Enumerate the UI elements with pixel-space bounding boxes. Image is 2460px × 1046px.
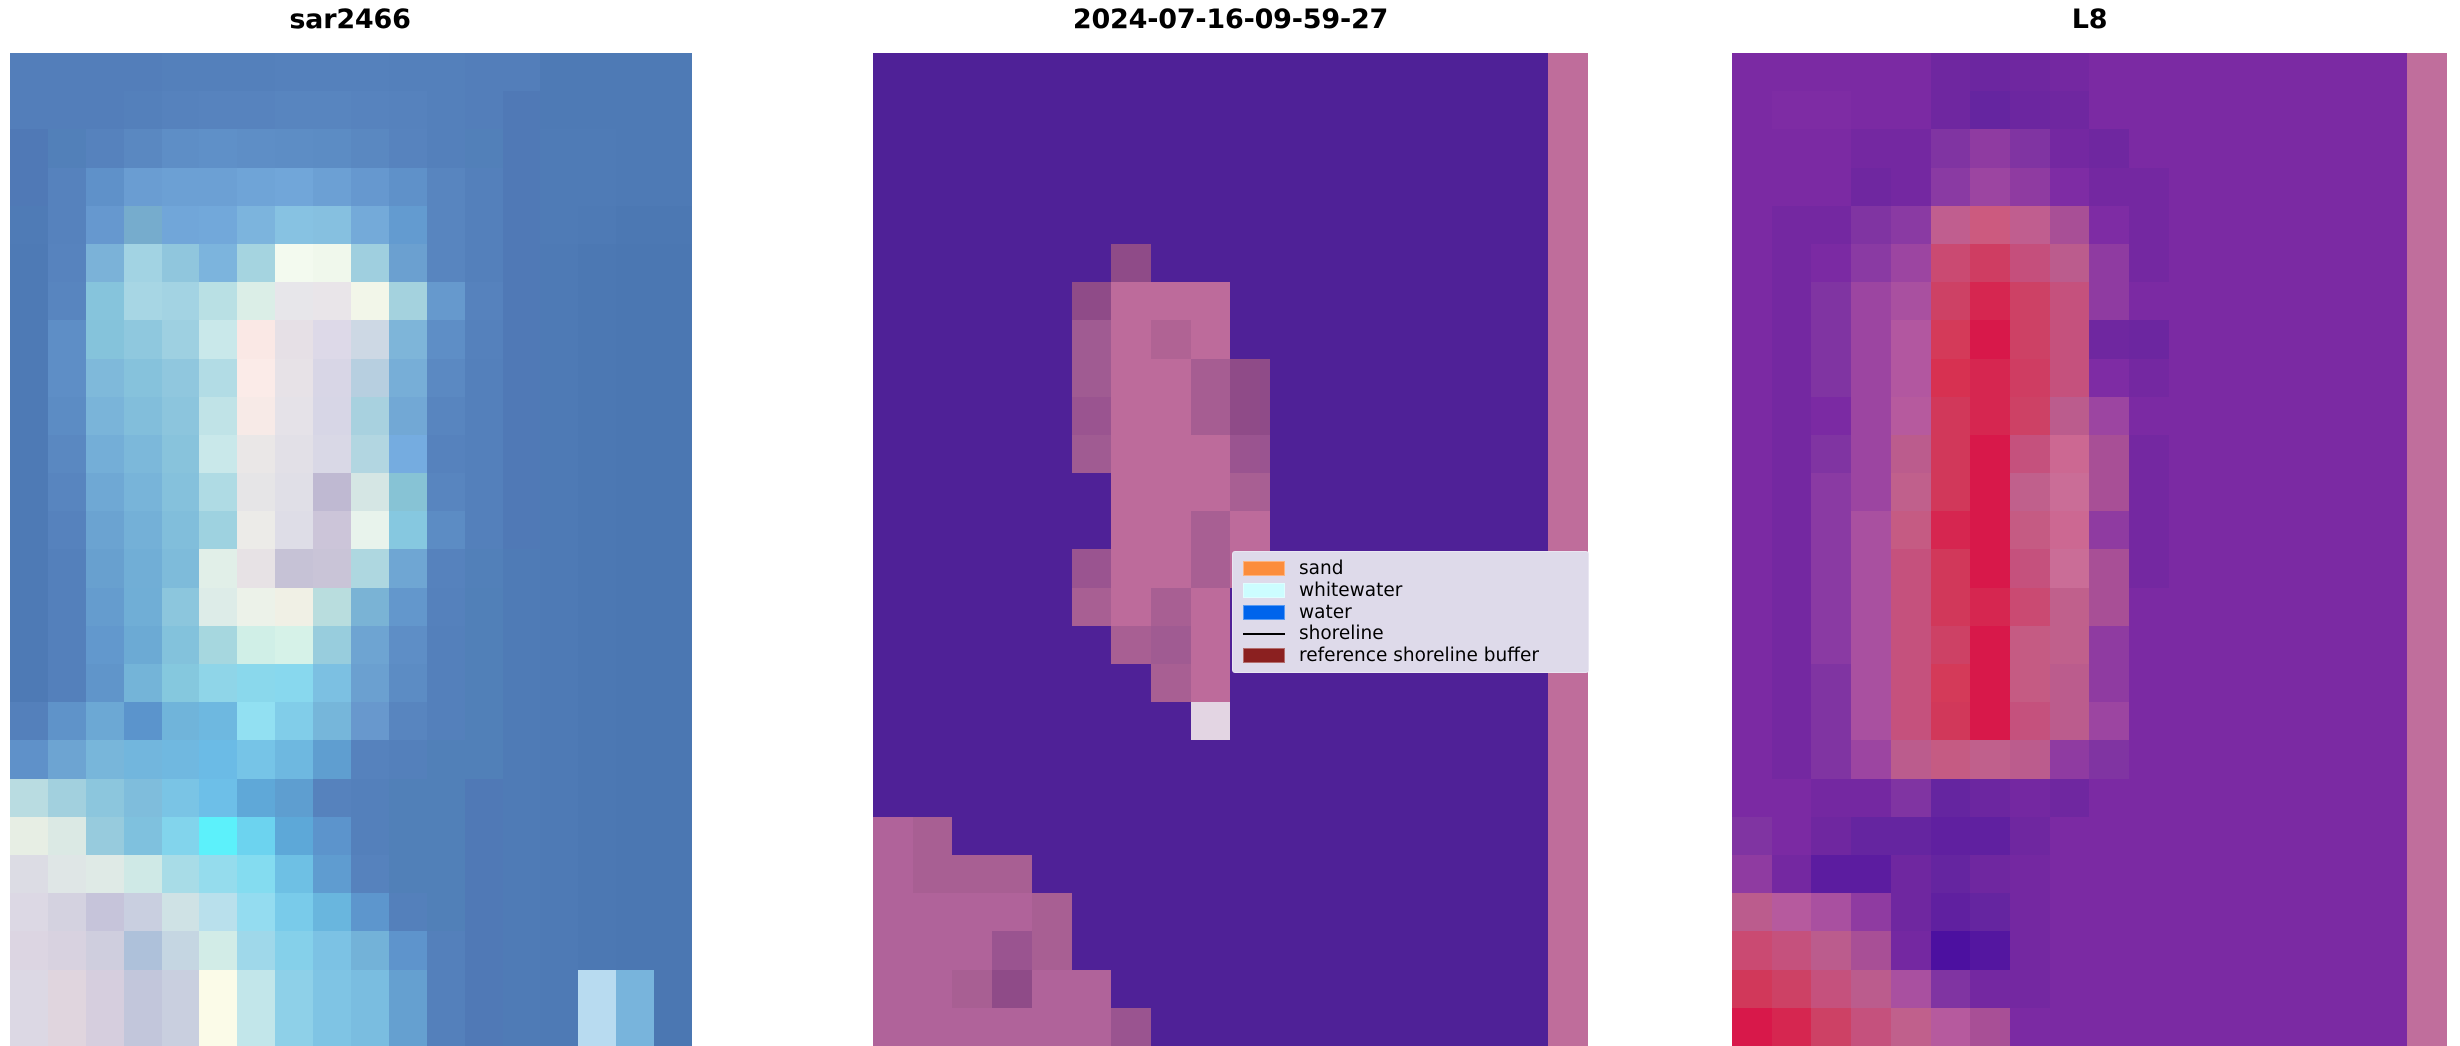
pixel-cell (199, 931, 237, 969)
pixel-cell (616, 53, 654, 91)
pixel-cell (1111, 206, 1151, 244)
pixel-cell (1970, 129, 2010, 167)
pixel-cell (1772, 931, 1812, 969)
pixel-cell (162, 397, 200, 435)
pixel-cell (1772, 855, 1812, 893)
pixel-cell (1389, 168, 1429, 206)
pixel-cell (389, 588, 427, 626)
pixel-cell (503, 588, 541, 626)
pixel-cell (2407, 931, 2447, 969)
pixel-cell (540, 664, 578, 702)
pixel-cell (162, 320, 200, 358)
pixel-cell (199, 168, 237, 206)
pixel-cell (1811, 435, 1851, 473)
pixel-cell (275, 549, 313, 587)
pixel-cell (124, 855, 162, 893)
pixel-cell (351, 511, 389, 549)
pixel-cell (1548, 53, 1588, 91)
pixel-cell (2407, 740, 2447, 778)
pixel-cell (1851, 320, 1891, 358)
pixel-cell (2129, 817, 2169, 855)
pixel-cell (2129, 435, 2169, 473)
pixel-cell (1970, 626, 2010, 664)
pixel-cell (10, 473, 48, 511)
pixel-cell (1931, 511, 1971, 549)
pixel-cell (1772, 1008, 1812, 1046)
pixel-cell (913, 931, 953, 969)
pixel-cell (1772, 435, 1812, 473)
pixel-cell (1230, 206, 1270, 244)
pixel-cell (124, 664, 162, 702)
pixel-cell (313, 855, 351, 893)
pixel-cell (654, 702, 692, 740)
pixel-cell (1111, 931, 1151, 969)
pixel-cell (2010, 244, 2050, 282)
pixel-cell (2089, 359, 2129, 397)
pixel-cell (2010, 91, 2050, 129)
pixel-cell (654, 549, 692, 587)
pixel-cell (1429, 970, 1469, 1008)
pixel-cell (199, 320, 237, 358)
pixel-cell (427, 473, 465, 511)
pixel-cell (2209, 206, 2249, 244)
pixel-cell (992, 91, 1032, 129)
pixel-cell (2010, 53, 2050, 91)
pixel-cell (2089, 626, 2129, 664)
pixel-cell (1811, 359, 1851, 397)
pixel-cell (2248, 129, 2288, 167)
pixel-cell (199, 359, 237, 397)
pixel-cell (1931, 588, 1971, 626)
pixel-cell (992, 970, 1032, 1008)
pixel-cell (124, 282, 162, 320)
pixel-cell (540, 740, 578, 778)
pixel-cell (1772, 282, 1812, 320)
pixel-cell (124, 206, 162, 244)
pixel-cell (389, 320, 427, 358)
pixel-cell (124, 129, 162, 167)
pixel-cell (503, 855, 541, 893)
pixel-cell (2407, 664, 2447, 702)
pixel-cell (1891, 855, 1931, 893)
pixel-cell (465, 855, 503, 893)
pixel-cell (1469, 817, 1509, 855)
pixel-cell (2169, 855, 2209, 893)
pixel-cell (1191, 435, 1231, 473)
pixel-cell (2288, 970, 2328, 1008)
pixel-cell (1151, 626, 1191, 664)
pixel-cell (2209, 129, 2249, 167)
legend-patch-icon (1243, 605, 1285, 620)
pixel-cell (1111, 53, 1151, 91)
pixel-cell (873, 53, 913, 91)
pixel-cell (1732, 855, 1772, 893)
pixel-cell (124, 549, 162, 587)
pixel-cell (1891, 1008, 1931, 1046)
pixel-cell (237, 1008, 275, 1046)
pixel-cell (1111, 435, 1151, 473)
pixel-cell (427, 740, 465, 778)
pixel-cell (1151, 473, 1191, 511)
pixel-cell (1389, 91, 1429, 129)
pixel-cell (2248, 91, 2288, 129)
pixel-cell (162, 168, 200, 206)
pixel-cell (1811, 855, 1851, 893)
pixel-cell (162, 779, 200, 817)
pixel-cell (351, 282, 389, 320)
pixel-cell (1509, 817, 1549, 855)
pixel-cell (1191, 549, 1231, 587)
pixel-cell (1151, 931, 1191, 969)
pixel-cell (465, 244, 503, 282)
pixel-cell (1111, 588, 1151, 626)
pixel-cell (86, 626, 124, 664)
pixel-cell (1970, 588, 2010, 626)
pixel-cell (1931, 91, 1971, 129)
pixel-cell (654, 206, 692, 244)
pixel-cell (2209, 626, 2249, 664)
pixel-cell (2288, 931, 2328, 969)
pixel-cell (2050, 168, 2090, 206)
pixel-cell (1389, 1008, 1429, 1046)
pixel-cell (2089, 855, 2129, 893)
pixel-cell (124, 740, 162, 778)
pixel-cell (237, 740, 275, 778)
pixel-cell (992, 435, 1032, 473)
pixel-cell (540, 970, 578, 1008)
pixel-cell (275, 588, 313, 626)
pixel-cell (2248, 244, 2288, 282)
pixel-cell (1469, 282, 1509, 320)
pixel-cell (1811, 588, 1851, 626)
pixel-cell (2010, 473, 2050, 511)
pixel-cell (2328, 702, 2368, 740)
pixel-cell (313, 817, 351, 855)
pixel-cell (992, 779, 1032, 817)
pixel-cell (2129, 588, 2169, 626)
pixel-cell (86, 702, 124, 740)
legend-item[interactable]: water (1243, 603, 1580, 622)
pixel-cell (465, 549, 503, 587)
pixel-cell (465, 893, 503, 931)
pixel-cell (351, 702, 389, 740)
pixel-cell (1389, 473, 1429, 511)
pixel-cell (2129, 664, 2169, 702)
pixel-cell (1811, 282, 1851, 320)
pixel-cell (199, 511, 237, 549)
pixel-cell (1191, 206, 1231, 244)
pixel-cell (1732, 244, 1772, 282)
pixel-cell (1151, 359, 1191, 397)
pixel-cell (2407, 817, 2447, 855)
pixel-cell (2209, 53, 2249, 91)
pixel-cell (1032, 664, 1072, 702)
pixel-cell (992, 626, 1032, 664)
pixel-cell (1811, 1008, 1851, 1046)
pixel-cell (124, 817, 162, 855)
pixel-cell (1072, 779, 1112, 817)
pixel-cell (2209, 359, 2249, 397)
pixel-cell (2050, 473, 2090, 511)
legend-item[interactable]: whitewater (1243, 581, 1580, 600)
pixel-cell (389, 855, 427, 893)
pixel-cell (48, 740, 86, 778)
pixel-cell (2328, 473, 2368, 511)
pixel-cell (952, 931, 992, 969)
pixel-cell (503, 740, 541, 778)
pixel-cell (2328, 626, 2368, 664)
pixel-cell (1548, 129, 1588, 167)
pixel-grid (1732, 53, 2447, 1046)
pixel-cell (1970, 244, 2010, 282)
pixel-cell (503, 702, 541, 740)
pixel-cell (654, 168, 692, 206)
pixel-cell (2129, 511, 2169, 549)
pixel-cell (1191, 817, 1231, 855)
pixel-cell (2089, 702, 2129, 740)
pixel-cell (616, 129, 654, 167)
pixel-cell (1509, 91, 1549, 129)
pixel-cell (2209, 397, 2249, 435)
pixel-cell (1931, 244, 1971, 282)
pixel-cell (952, 893, 992, 931)
pixel-cell (465, 53, 503, 91)
pixel-cell (540, 244, 578, 282)
pixel-cell (578, 282, 616, 320)
pixel-cell (275, 702, 313, 740)
pixel-cell (427, 129, 465, 167)
pixel-cell (1772, 702, 1812, 740)
pixel-cell (1772, 473, 1812, 511)
panel-sar2466 (10, 53, 692, 1046)
pixel-cell (503, 1008, 541, 1046)
pixel-cell (1509, 397, 1549, 435)
pixel-cell (1072, 282, 1112, 320)
pixel-cell (2050, 320, 2090, 358)
pixel-cell (2248, 664, 2288, 702)
pixel-cell (952, 970, 992, 1008)
pixel-cell (2328, 1008, 2368, 1046)
pixel-cell (952, 129, 992, 167)
pixel-cell (654, 588, 692, 626)
pixel-cell (913, 779, 953, 817)
pixel-cell (873, 702, 913, 740)
pixel-cell (313, 549, 351, 587)
pixel-cell (2407, 282, 2447, 320)
pixel-cell (2368, 168, 2408, 206)
pixel-cell (952, 511, 992, 549)
pixel-cell (1772, 549, 1812, 587)
pixel-cell (616, 931, 654, 969)
pixel-cell (578, 588, 616, 626)
pixel-cell (427, 931, 465, 969)
pixel-cell (1548, 931, 1588, 969)
pixel-cell (578, 855, 616, 893)
pixel-cell (1151, 779, 1191, 817)
pixel-cell (10, 626, 48, 664)
pixel-cell (1970, 168, 2010, 206)
pixel-cell (2288, 893, 2328, 931)
pixel-cell (1191, 779, 1231, 817)
pixel-cell (1732, 206, 1772, 244)
pixel-cell (351, 359, 389, 397)
pixel-cell (616, 244, 654, 282)
pixel-cell (1429, 53, 1469, 91)
legend-item[interactable]: shoreline (1243, 624, 1580, 643)
pixel-cell (616, 359, 654, 397)
pixel-cell (873, 320, 913, 358)
pixel-cell (351, 626, 389, 664)
pixel-cell (1851, 817, 1891, 855)
pixel-cell (1891, 779, 1931, 817)
pixel-cell (2407, 511, 2447, 549)
pixel-cell (2129, 53, 2169, 91)
pixel-cell (1891, 511, 1931, 549)
pixel-cell (992, 206, 1032, 244)
pixel-cell (427, 91, 465, 129)
pixel-cell (992, 664, 1032, 702)
pixel-cell (503, 511, 541, 549)
pixel-cell (1151, 970, 1191, 1008)
pixel-cell (48, 282, 86, 320)
pixel-cell (1891, 588, 1931, 626)
pixel-cell (237, 320, 275, 358)
pixel-cell (873, 588, 913, 626)
pixel-cell (2288, 511, 2328, 549)
pixel-cell (1772, 626, 1812, 664)
pixel-cell (1970, 320, 2010, 358)
pixel-cell (86, 588, 124, 626)
pixel-cell (1772, 320, 1812, 358)
pixel-cell (48, 511, 86, 549)
pixel-cell (1509, 1008, 1549, 1046)
pixel-cell (427, 855, 465, 893)
pixel-cell (1732, 397, 1772, 435)
pixel-cell (503, 970, 541, 1008)
pixel-cell (992, 893, 1032, 931)
pixel-cell (1772, 91, 1812, 129)
pixel-cell (2248, 168, 2288, 206)
pixel-cell (540, 779, 578, 817)
pixel-cell (654, 91, 692, 129)
pixel-cell (503, 626, 541, 664)
pixel-cell (1811, 893, 1851, 931)
pixel-cell (540, 702, 578, 740)
pixel-cell (1891, 435, 1931, 473)
pixel-cell (389, 206, 427, 244)
pixel-cell (237, 435, 275, 473)
pixel-cell (389, 626, 427, 664)
pixel-cell (275, 282, 313, 320)
pixel-cell (2328, 91, 2368, 129)
pixel-cell (1270, 91, 1310, 129)
pixel-cell (1191, 359, 1231, 397)
pixel-cell (2288, 779, 2328, 817)
pixel-cell (1230, 435, 1270, 473)
pixel-cell (1732, 740, 1772, 778)
pixel-cell (124, 359, 162, 397)
pixel-cell (654, 320, 692, 358)
pixel-cell (1072, 931, 1112, 969)
pixel-cell (1151, 168, 1191, 206)
pixel-cell (616, 282, 654, 320)
pixel-cell (2010, 702, 2050, 740)
pixel-cell (1931, 282, 1971, 320)
pixel-cell (124, 1008, 162, 1046)
pixel-cell (1151, 1008, 1191, 1046)
pixel-cell (1111, 626, 1151, 664)
pixel-cell (2169, 970, 2209, 1008)
pixel-cell (1151, 244, 1191, 282)
pixel-cell (48, 129, 86, 167)
legend-item[interactable]: sand (1243, 559, 1580, 578)
pixel-cell (503, 549, 541, 587)
pixel-cell (992, 817, 1032, 855)
pixel-cell (465, 588, 503, 626)
pixel-cell (654, 53, 692, 91)
pixel-cell (1970, 359, 2010, 397)
pixel-cell (578, 511, 616, 549)
pixel-cell (1772, 588, 1812, 626)
pixel-cell (2169, 817, 2209, 855)
pixel-cell (2328, 511, 2368, 549)
pixel-cell (2089, 588, 2129, 626)
pixel-cell (2129, 626, 2169, 664)
pixel-cell (2328, 129, 2368, 167)
pixel-cell (124, 91, 162, 129)
pixel-cell (654, 511, 692, 549)
pixel-cell (1151, 664, 1191, 702)
pixel-cell (313, 206, 351, 244)
pixel-cell (1851, 282, 1891, 320)
pixel-cell (10, 129, 48, 167)
pixel-cell (654, 893, 692, 931)
pixel-cell (2129, 91, 2169, 129)
pixel-cell (313, 91, 351, 129)
pixel-cell (427, 893, 465, 931)
pixel-cell (578, 664, 616, 702)
pixel-cell (199, 740, 237, 778)
pixel-cell (1072, 473, 1112, 511)
pixel-cell (1151, 740, 1191, 778)
pixel-cell (2288, 359, 2328, 397)
pixel-cell (86, 397, 124, 435)
pixel-cell (1310, 779, 1350, 817)
pixel-cell (313, 435, 351, 473)
pixel-cell (275, 893, 313, 931)
pixel-cell (1032, 740, 1072, 778)
pixel-cell (873, 129, 913, 167)
pixel-cell (2050, 282, 2090, 320)
pixel-cell (1509, 168, 1549, 206)
pixel-cell (351, 473, 389, 511)
pixel-cell (2129, 397, 2169, 435)
pixel-cell (578, 473, 616, 511)
pixel-cell (1509, 53, 1549, 91)
pixel-cell (578, 970, 616, 1008)
pixel-cell (1851, 549, 1891, 587)
pixel-cell (1429, 779, 1469, 817)
legend-item[interactable]: reference shoreline buffer (1243, 646, 1580, 665)
pixel-cell (199, 244, 237, 282)
pixel-cell (1389, 740, 1429, 778)
pixel-cell (1350, 320, 1390, 358)
pixel-cell (2248, 626, 2288, 664)
pixel-cell (124, 970, 162, 1008)
pixel-cell (913, 740, 953, 778)
pixel-cell (2288, 244, 2328, 282)
pixel-cell (1469, 931, 1509, 969)
